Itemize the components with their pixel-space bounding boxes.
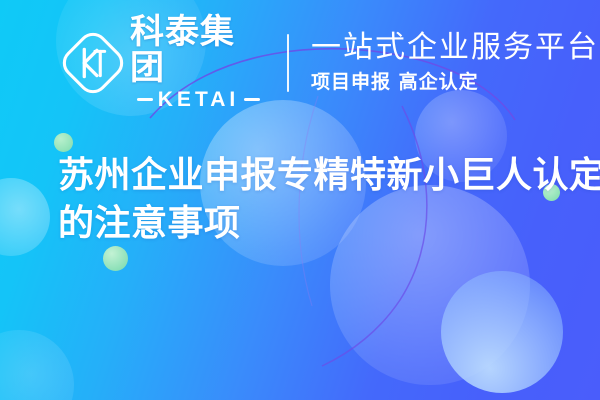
wordmark-rule-right [244,98,260,101]
brand-name-en: KETAI [158,88,239,112]
banner-header: 科泰集团 KETAI 一站式企业服务平台 项目申报 高企认定 [0,0,600,125]
wordmark-rule-left [137,98,153,101]
tagline-main: 一站式企业服务平台 [311,30,599,66]
header-tagline-group: 一站式企业服务平台 项目申报 高企认定 [311,30,599,95]
header-divider [287,34,289,92]
blob-bottom-left-decoration [0,330,74,400]
green-dot-upper-left [54,133,73,152]
title-line-1: 苏州企业申报专精特新小巨人认定 [58,152,558,200]
green-dot-mid-left [103,246,128,271]
brand-name-cn: 科泰集团 [130,14,267,86]
tagline-sub: 项目申报 高企认定 [311,69,599,95]
brand-name-en-row: KETAI [130,88,267,112]
blob-left-edge-decoration [0,178,50,256]
brand-logo[interactable]: 科泰集团 KETAI [62,14,267,112]
banner-title: 苏州企业申报专精特新小巨人认定 的注意事项 [58,152,558,248]
promo-banner: 科泰集团 KETAI 一站式企业服务平台 项目申报 高企认定 苏州企业申报专精特… [0,0,600,400]
title-line-2: 的注意事项 [58,200,558,248]
brand-wordmark: 科泰集团 KETAI [130,14,267,112]
blob-bright-bottom-right-decoration [441,271,563,393]
ketai-diamond-kt-logo-icon [62,32,124,94]
